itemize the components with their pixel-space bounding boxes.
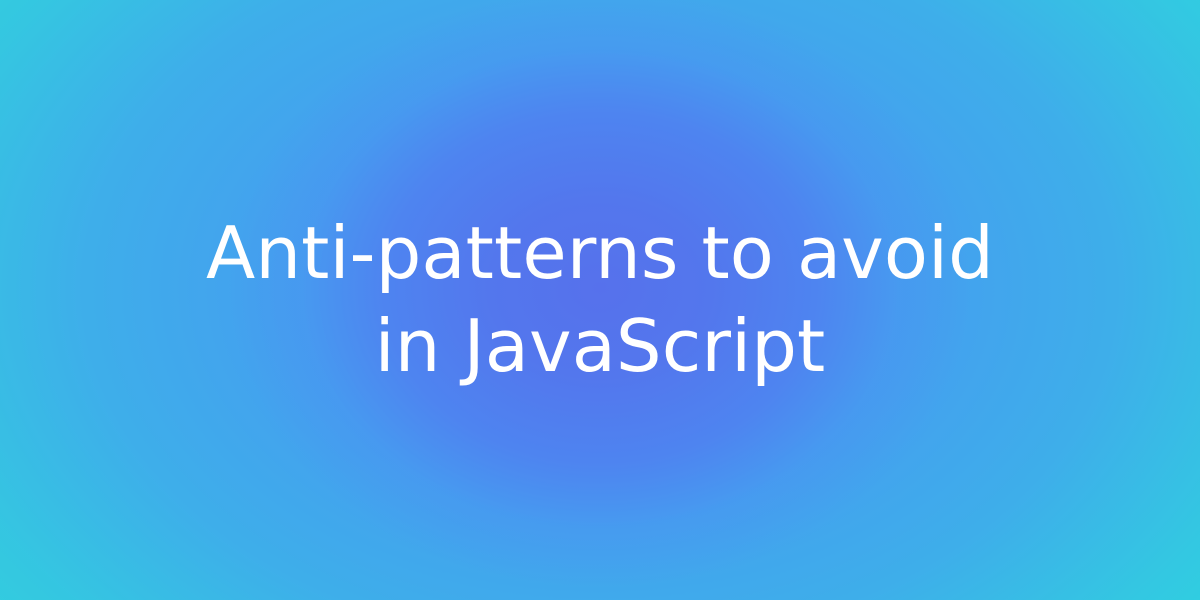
banner-content: Anti-patterns to avoid in JavaScript (0, 0, 1200, 600)
page-title: Anti-patterns to avoid in JavaScript (185, 207, 1015, 393)
social-card-banner: Anti-patterns to avoid in JavaScript (0, 0, 1200, 600)
